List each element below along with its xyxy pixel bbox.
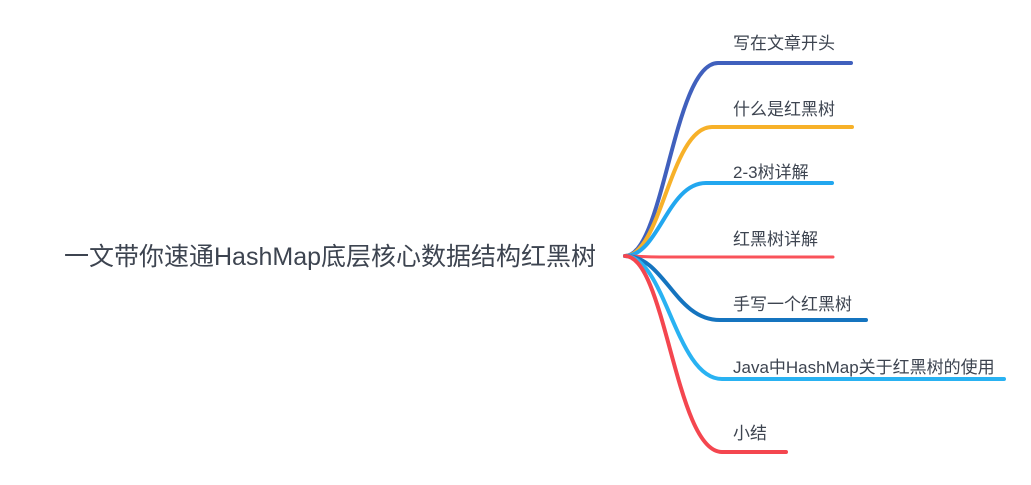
branch-curve-3[interactable] (625, 256, 833, 257)
branch-label-5[interactable]: Java中HashMap关于红黑树的使用 (733, 357, 995, 379)
branch-label-2[interactable]: 2-3树详解 (733, 162, 809, 184)
mindmap-canvas: 一文带你速通HashMap底层核心数据结构红黑树 写在文章开头 什么是红黑树 2… (0, 0, 1031, 485)
branch-label-4[interactable]: 手写一个红黑树 (733, 294, 852, 316)
branch-label-1[interactable]: 什么是红黑树 (733, 99, 835, 121)
branch-label-6[interactable]: 小结 (733, 423, 767, 445)
branch-label-0[interactable]: 写在文章开头 (733, 33, 835, 55)
root-node-title[interactable]: 一文带你速通HashMap底层核心数据结构红黑树 (60, 240, 600, 274)
branch-label-3[interactable]: 红黑树详解 (733, 229, 818, 251)
